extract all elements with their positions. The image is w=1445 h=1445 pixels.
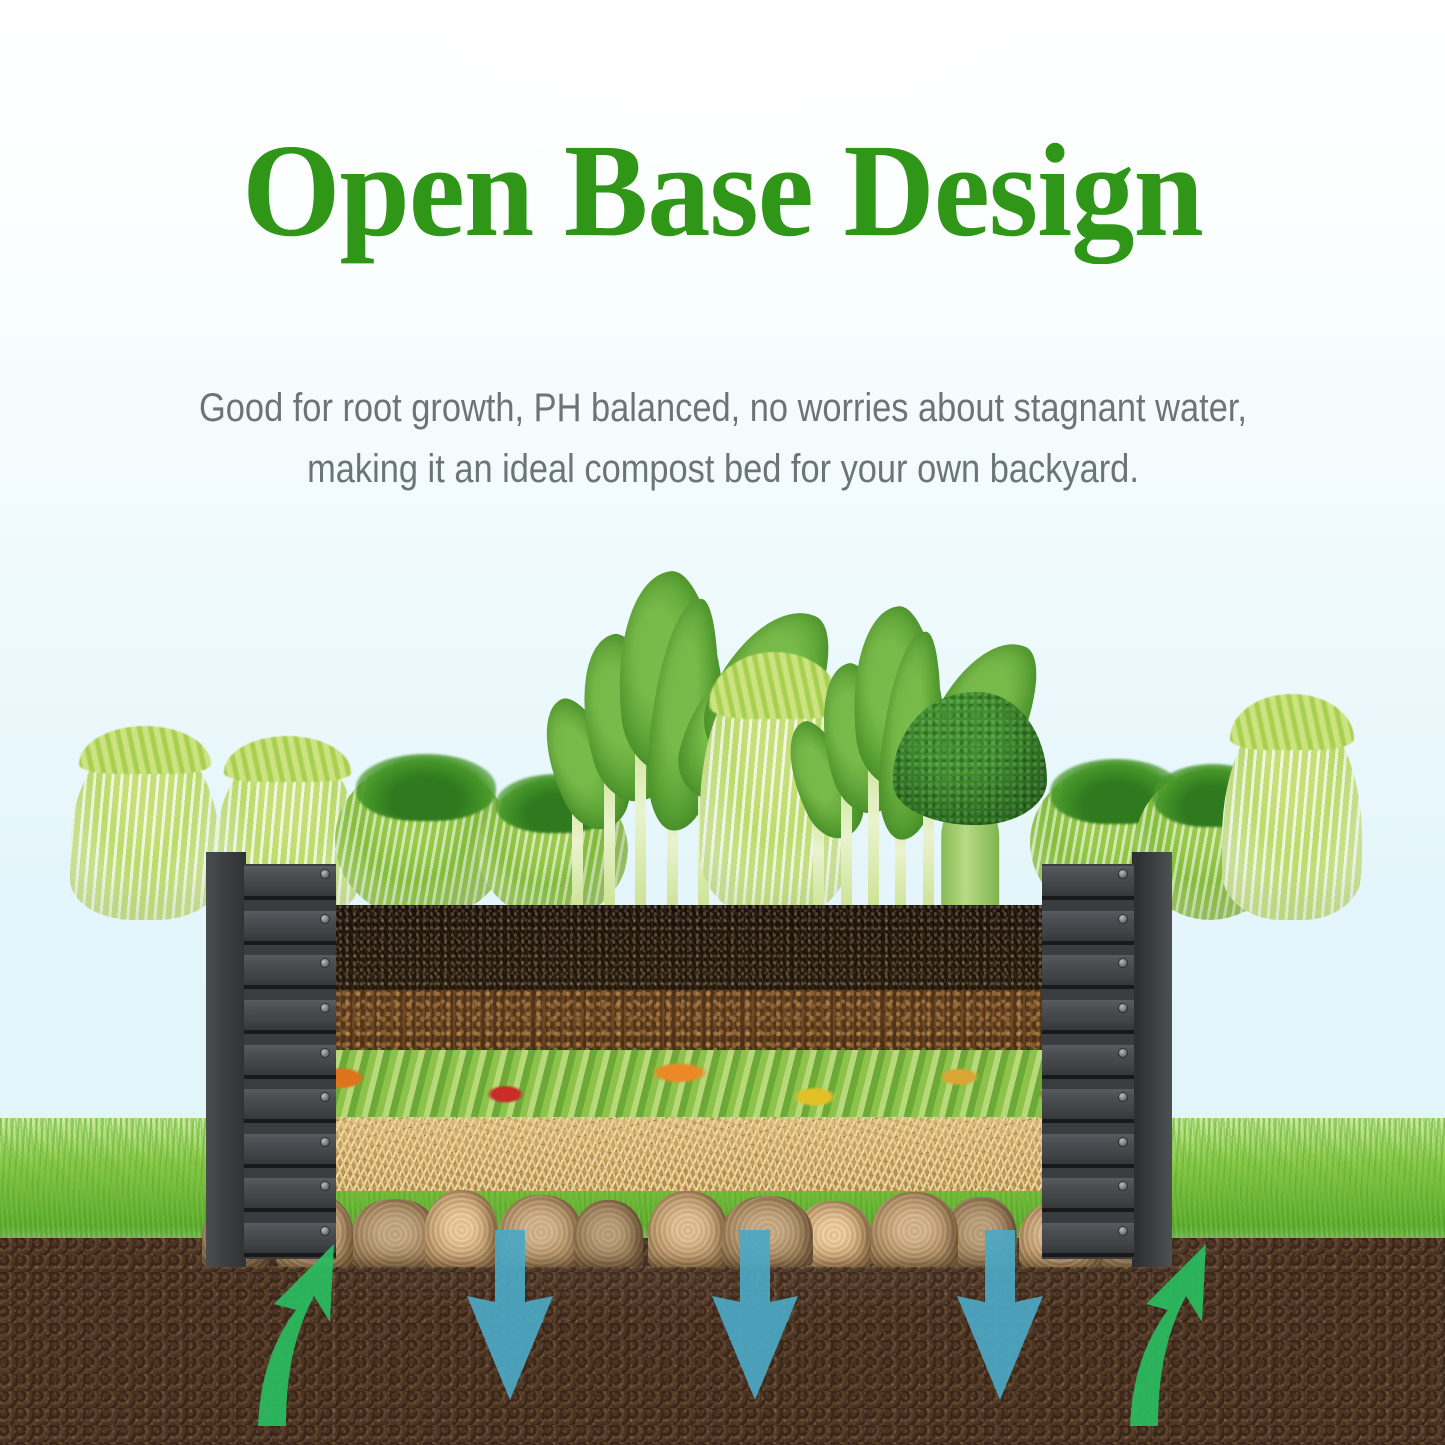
panel-bolt-icon (321, 1182, 329, 1190)
vegetable-napa-cabbage-1 (70, 735, 220, 920)
panel-slat (244, 1178, 336, 1212)
arrow-glyph-down (957, 1230, 1043, 1400)
arrow-airflow-up-left (238, 1230, 348, 1435)
layer-kitchen-scraps (206, 1050, 1172, 1117)
panel-bolt-icon (1119, 915, 1127, 923)
panel-bolt-icon (1119, 870, 1127, 878)
panel-slat (1042, 1178, 1134, 1212)
arrow-glyph-up (1130, 1244, 1206, 1426)
subtitle-line-2: making it an ideal compost bed for your … (52, 439, 1394, 500)
infographic-scene: Open Base Design Good for root growth, P… (0, 0, 1445, 1445)
panel-slat (244, 955, 336, 989)
bed-slats-right (1042, 864, 1134, 1259)
arrow-drainage-down-3 (945, 1230, 1055, 1435)
bed-corner-post-right (1132, 852, 1172, 1267)
arrow-glyph-down (712, 1230, 798, 1400)
panel-bolt-icon (1119, 1049, 1127, 1057)
panel-bolt-icon (321, 959, 329, 967)
panel-bolt-icon (321, 870, 329, 878)
layer-straw (206, 1117, 1172, 1191)
panel-bolt-icon (321, 1049, 329, 1057)
bed-corner-post-left (206, 852, 246, 1267)
panel-slat (244, 911, 336, 945)
panel-slat (1042, 1134, 1134, 1168)
flow-arrows (0, 1230, 1445, 1445)
vegetable-napa-cabbage-3 (1222, 705, 1362, 920)
panel-bolt-icon (321, 1093, 329, 1101)
page-title: Open Base Design (36, 124, 1409, 257)
layer-mulch (206, 990, 1172, 1050)
panel-bolt-icon (1119, 1182, 1127, 1190)
panel-bolt-icon (1119, 1004, 1127, 1012)
vegetable-broccoli (890, 705, 1050, 920)
panel-slat (244, 1089, 336, 1123)
arrow-glyph-up (258, 1244, 334, 1426)
arrow-glyph-down (467, 1230, 553, 1400)
raised-garden-bed (206, 905, 1172, 1267)
panel-slat (244, 1045, 336, 1079)
bed-panel-left (206, 852, 336, 1267)
panel-bolt-icon (1119, 959, 1127, 967)
panel-slat (1042, 955, 1134, 989)
panel-slat (244, 1134, 336, 1168)
panel-bolt-icon (1119, 1093, 1127, 1101)
broccoli-crown (893, 692, 1047, 825)
subtitle-line-1: Good for root growth, PH balanced, no wo… (52, 378, 1394, 439)
panel-slat (1042, 1045, 1134, 1079)
bed-panel-right (1042, 852, 1172, 1267)
arrow-drainage-down-1 (455, 1230, 565, 1435)
page-subtitle: Good for root growth, PH balanced, no wo… (52, 378, 1394, 500)
layer-topsoil (206, 905, 1172, 990)
panel-bolt-icon (321, 1004, 329, 1012)
panel-bolt-icon (1119, 1138, 1127, 1146)
panel-bolt-icon (321, 1138, 329, 1146)
bed-slats-left (244, 864, 336, 1259)
panel-slat (1042, 1000, 1134, 1034)
panel-slat (1042, 866, 1134, 900)
panel-slat (244, 1000, 336, 1034)
arrow-drainage-down-2 (700, 1230, 810, 1435)
panel-slat (244, 866, 336, 900)
arrow-airflow-up-right (1110, 1230, 1220, 1435)
panel-slat (1042, 1089, 1134, 1123)
panel-slat (1042, 911, 1134, 945)
panel-bolt-icon (321, 915, 329, 923)
